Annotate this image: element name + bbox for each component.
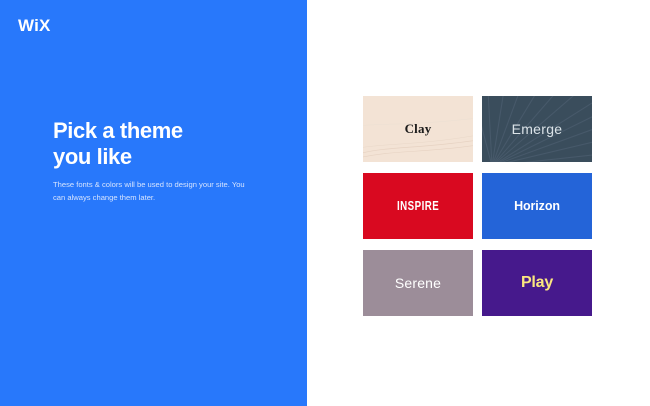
left-intro-panel: WiX Pick a theme you like These fonts & … <box>0 0 307 406</box>
page-subtitle: These fonts & colors will be used to des… <box>53 179 245 204</box>
theme-selection-panel: Clay <box>307 0 650 406</box>
theme-label-clay: Clay <box>405 121 432 137</box>
theme-label-inspire: INSPIRE <box>397 199 439 213</box>
theme-card-play[interactable]: Play <box>482 250 592 316</box>
theme-card-horizon[interactable]: Horizon <box>482 173 592 239</box>
theme-picker-screen: WiX Pick a theme you like These fonts & … <box>0 0 650 406</box>
theme-label-horizon: Horizon <box>514 199 560 213</box>
wix-logo[interactable]: WiX <box>18 17 51 34</box>
theme-grid: Clay <box>363 96 592 316</box>
theme-card-inspire[interactable]: INSPIRE <box>363 173 473 239</box>
theme-card-clay[interactable]: Clay <box>363 96 473 162</box>
theme-card-emerge[interactable]: Emerge <box>482 96 592 162</box>
theme-card-serene[interactable]: Serene <box>363 250 473 316</box>
theme-label-emerge: Emerge <box>512 121 563 137</box>
theme-label-serene: Serene <box>395 275 441 291</box>
page-title: Pick a theme you like <box>53 118 253 169</box>
intro-text-block: Pick a theme you like These fonts & colo… <box>53 118 253 204</box>
theme-label-play: Play <box>521 274 553 292</box>
